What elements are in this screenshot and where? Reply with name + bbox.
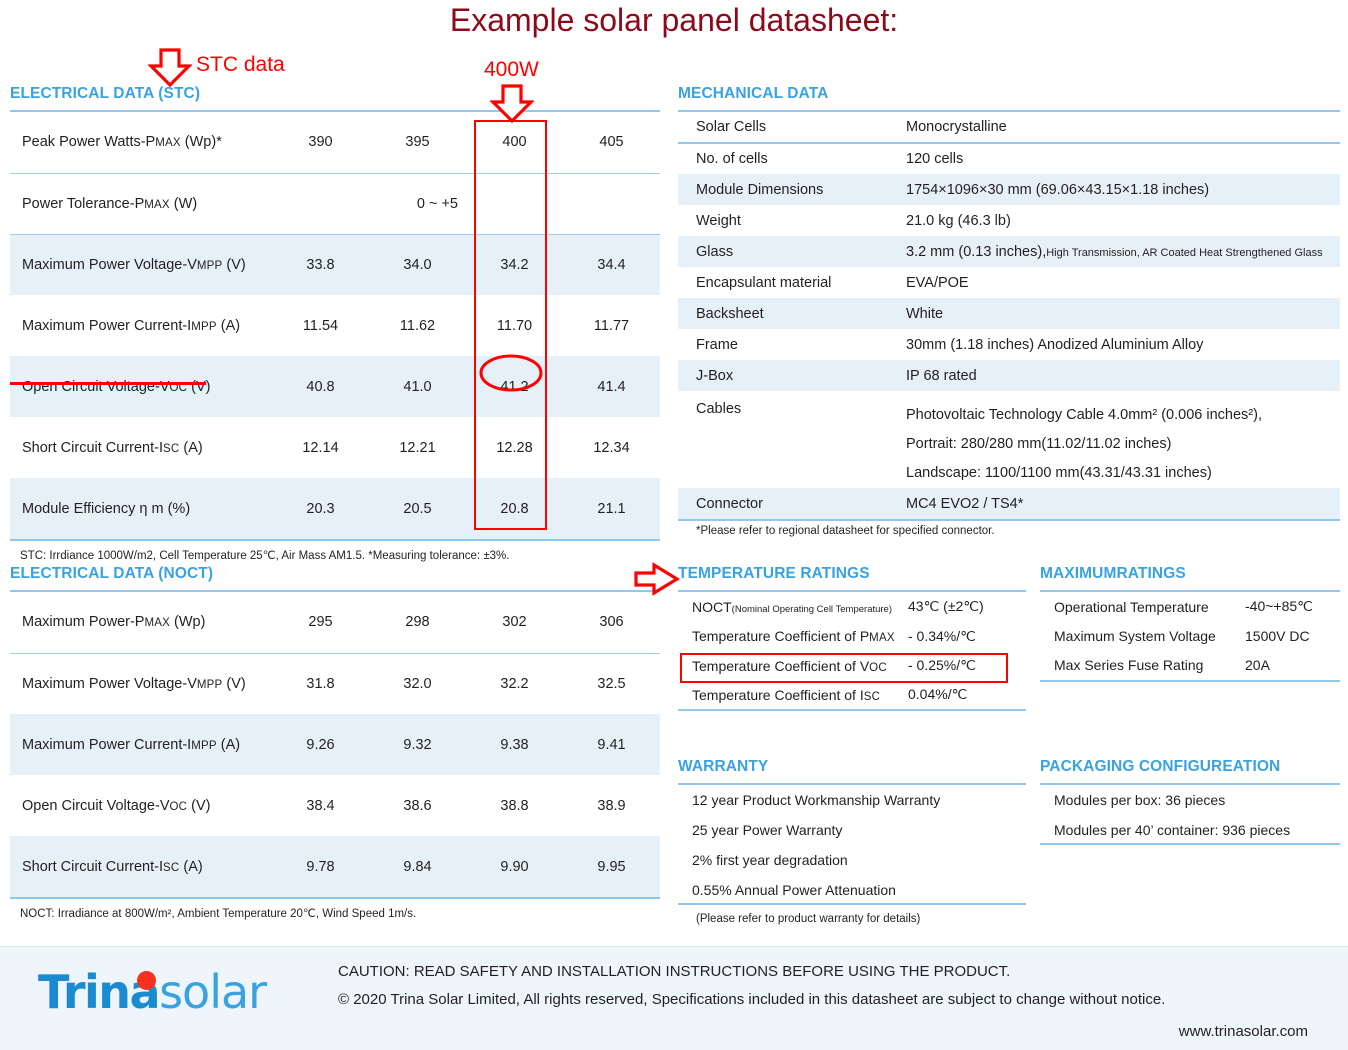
cable-line-2: Portrait: 280/280 mm(11.02/11.02 inches): [906, 430, 1340, 459]
table-row: Open Circuit Voltage-VOC (V) 38.4 38.6 3…: [10, 775, 660, 836]
cell-value: 11.70: [466, 295, 563, 356]
row-key: Glass: [678, 236, 906, 267]
footer-legal-text: CAUTION: READ SAFETY AND INSTALLATION IN…: [338, 963, 1308, 1019]
warranty-section: WARRANTY 12 year Product Workmanship War…: [678, 758, 1026, 925]
divider: [10, 539, 660, 541]
cell-value: 32.2: [466, 653, 563, 714]
row-label: Module Efficiency η m (%): [10, 478, 272, 539]
table-row: Maximum Power-PMAX (Wp) 295 298 302 306: [10, 592, 660, 653]
list-item: 2% first year degradation: [678, 845, 1026, 875]
row-value: MC4 EVO2 / TS4*: [906, 488, 1340, 519]
table-row: Module Dimensions 1754×1096×30 mm (69.06…: [678, 174, 1340, 205]
cell-value: 40.8: [272, 356, 369, 417]
cell-value: 12.14: [272, 417, 369, 478]
row-value: 20A: [1245, 651, 1340, 681]
row-value: 43℃ (±2℃): [908, 592, 1026, 622]
cell-value: 33.8: [272, 234, 369, 295]
row-value: IP 68 rated: [906, 360, 1340, 391]
warranty-heading: WARRANTY: [678, 758, 1026, 776]
cable-line-1: Photovoltaic Technology Cable 4.0mm² (0.…: [906, 401, 1340, 430]
row-key: Frame: [678, 329, 906, 360]
table-row: No. of cells 120 cells: [678, 143, 1340, 174]
electrical-noct-section: ELECTRICAL DATA (NOCT) Maximum Power-PMA…: [10, 565, 660, 920]
row-key: Maximum System Voltage: [1040, 622, 1245, 652]
table-row: Open Circuit Voltage-VOC (V) 40.8 41.0 4…: [10, 356, 660, 417]
table-row: Short Circuit Current-ISC (A) 12.14 12.2…: [10, 417, 660, 478]
copyright-line: © 2020 Trina Solar Limited, All rights r…: [338, 991, 1308, 1008]
row-key: Temperature Coefficient of VOC: [678, 651, 908, 681]
cell-value: 38.4: [272, 775, 369, 836]
table-row: Max Series Fuse Rating 20A: [1040, 651, 1340, 681]
website-link[interactable]: www.trinasolar.com: [1179, 1023, 1308, 1040]
trinasolar-logo: Trinasolar: [38, 965, 298, 1031]
temperature-ratings-section: TEMPERATURE RATINGS NOCT(Nominal Operati…: [678, 565, 1026, 711]
table-row: Maximum Power Current-IMPP (A) 9.26 9.32…: [10, 714, 660, 775]
row-key: Temperature Coefficient of ISC: [678, 681, 908, 711]
cell-value: 20.8: [466, 478, 563, 539]
cell-value: 405: [563, 112, 660, 173]
row-value: 30mm (1.18 inches) Anodized Aluminium Al…: [906, 329, 1340, 360]
table-row: Frame 30mm (1.18 inches) Anodized Alumin…: [678, 329, 1340, 360]
table-row: Connector MC4 EVO2 / TS4*: [678, 488, 1340, 519]
noct-expansion: (Nominal Operating Cell Temperature): [732, 604, 892, 615]
cell-value: 9.95: [563, 836, 660, 897]
cell-value: 295: [272, 592, 369, 653]
cell-value: 0 ~ +5: [369, 173, 466, 234]
table-row: Maximum Power Current-IMPP (A) 11.54 11.…: [10, 295, 660, 356]
table-row: Operational Temperature -40~+85℃: [1040, 592, 1340, 622]
cell-value: 9.26: [272, 714, 369, 775]
row-label: Short Circuit Current-ISC (A): [10, 836, 272, 897]
row-key: Connector: [678, 488, 906, 519]
row-value: - 0.25%/℃: [908, 651, 1026, 681]
cable-line-3: Landscape: 1100/1100 mm(43.31/43.31 inch…: [906, 459, 1340, 488]
cell-value: 306: [563, 592, 660, 653]
row-label: Maximum Power Current-IMPP (A): [10, 714, 272, 775]
row-value: Monocrystalline: [906, 112, 1340, 143]
packaging-heading: PACKAGING CONFIGUREATION: [1040, 758, 1340, 776]
table-row: Solar Cells Monocrystalline: [678, 112, 1340, 143]
table-row: Short Circuit Current-ISC (A) 9.78 9.84 …: [10, 836, 660, 897]
cell-value: 395: [369, 112, 466, 173]
cell-value: 38.9: [563, 775, 660, 836]
row-key: NOCT(Nominal Operating Cell Temperature): [678, 592, 908, 622]
mechanical-data-table: Solar Cells Monocrystalline No. of cells…: [678, 112, 1340, 519]
row-value: 120 cells: [906, 143, 1340, 174]
table-row: Module Efficiency η m (%) 20.3 20.5 20.8…: [10, 478, 660, 539]
temperature-ratings-heading: TEMPERATURE RATINGS: [678, 565, 1026, 583]
maximum-ratings-section: MAXIMUMRATINGS Operational Temperature -…: [1040, 565, 1340, 682]
table-row: Power Tolerance-PMAX (W) 0 ~ +5: [10, 173, 660, 234]
row-label: Maximum Power Voltage-VMPP (V): [10, 234, 272, 295]
cell-value: 41.0: [369, 356, 466, 417]
row-value: 0.04%/℃: [908, 681, 1026, 711]
row-value: White: [906, 298, 1340, 329]
divider: [678, 519, 1340, 521]
row-value: 1754×1096×30 mm (69.06×43.15×1.18 inches…: [906, 174, 1340, 205]
row-key: Max Series Fuse Rating: [1040, 651, 1245, 681]
list-item: Modules per box: 36 pieces: [1040, 785, 1340, 815]
row-label: Power Tolerance-PMAX (W): [10, 173, 272, 234]
row-label: Maximum Power Current-IMPP (A): [10, 295, 272, 356]
list-item: 12 year Product Workmanship Warranty: [678, 785, 1026, 815]
electrical-stc-section: ELECTRICAL DATA (STC) Peak Power Watts-P…: [10, 85, 660, 562]
mechanical-data-section: MECHANICAL DATA Solar Cells Monocrystall…: [678, 85, 1340, 537]
list-item: 25 year Power Warranty: [678, 815, 1026, 845]
cell-value: 390: [272, 112, 369, 173]
row-label: Maximum Power Voltage-VMPP (V): [10, 653, 272, 714]
row-key: Solar Cells: [678, 112, 906, 143]
row-label: Peak Power Watts-PMAX (Wp)*: [10, 112, 272, 173]
row-value: -40~+85℃: [1245, 592, 1340, 622]
table-row: Temperature Coefficient of ISC 0.04%/℃: [678, 681, 1026, 711]
row-key: Module Dimensions: [678, 174, 906, 205]
table-row: NOCT(Nominal Operating Cell Temperature)…: [678, 592, 1026, 622]
temperature-ratings-table: NOCT(Nominal Operating Cell Temperature)…: [678, 592, 1026, 711]
row-value: Photovoltaic Technology Cable 4.0mm² (0.…: [906, 391, 1340, 488]
row-value: 3.2 mm (0.13 inches),High Transmission, …: [906, 236, 1340, 267]
row-label: Open Circuit Voltage-VOC (V): [10, 775, 272, 836]
row-key: Cables: [678, 391, 906, 488]
glass-detail: High Transmission, AR Coated Heat Streng…: [1046, 247, 1322, 259]
list-item: 0.55% Annual Power Attenuation: [678, 875, 1026, 905]
row-key: No. of cells: [678, 143, 906, 174]
row-value: EVA/POE: [906, 267, 1340, 298]
row-key: Temperature Coefficient of PMAX: [678, 622, 908, 652]
cell-value: 21.1: [563, 478, 660, 539]
logo-dot-icon: [137, 971, 156, 990]
table-row-voc-coefficient: Temperature Coefficient of VOC - 0.25%/℃: [678, 651, 1026, 681]
cell-value: 11.62: [369, 295, 466, 356]
table-row: Peak Power Watts-PMAX (Wp)* 390 395 400 …: [10, 112, 660, 173]
datasheet-body: ELECTRICAL DATA (STC) Peak Power Watts-P…: [0, 0, 1348, 940]
maximum-ratings-heading: MAXIMUMRATINGS: [1040, 565, 1340, 583]
row-key: Encapsulant material: [678, 267, 906, 298]
packaging-section: PACKAGING CONFIGUREATION Modules per box…: [1040, 758, 1340, 845]
cell-value: 12.21: [369, 417, 466, 478]
cell-value: 400: [466, 112, 563, 173]
cell-value: 34.0: [369, 234, 466, 295]
cell-value: [466, 173, 563, 234]
row-key: Weight: [678, 205, 906, 236]
cell-value: 9.41: [563, 714, 660, 775]
cell-value: 11.77: [563, 295, 660, 356]
cell-value: 38.6: [369, 775, 466, 836]
cell-value: 34.4: [563, 234, 660, 295]
logo-text-solar: solar: [159, 965, 266, 1019]
cell-value: 32.5: [563, 653, 660, 714]
cell-value: 12.34: [563, 417, 660, 478]
cell-value: 20.3: [272, 478, 369, 539]
table-row: Weight 21.0 kg (46.3 lb): [678, 205, 1340, 236]
divider: [10, 897, 660, 899]
cell-value: 298: [369, 592, 466, 653]
table-row: Maximum Power Voltage-VMPP (V) 31.8 32.0…: [10, 653, 660, 714]
table-row: Temperature Coefficient of PMAX - 0.34%/…: [678, 622, 1026, 652]
table-row: Cables Photovoltaic Technology Cable 4.0…: [678, 391, 1340, 488]
cell-value: 31.8: [272, 653, 369, 714]
row-label: Short Circuit Current-ISC (A): [10, 417, 272, 478]
table-row: Maximum Power Voltage-VMPP (V) 33.8 34.0…: [10, 234, 660, 295]
row-label-voc: Open Circuit Voltage-VOC (V): [10, 356, 272, 417]
cell-value-highlighted: 41.2: [466, 356, 563, 417]
row-value: 1500V DC: [1245, 622, 1340, 652]
electrical-noct-table: Maximum Power-PMAX (Wp) 295 298 302 306 …: [10, 592, 660, 897]
cell-value: 34.2: [466, 234, 563, 295]
cell-value: 9.84: [369, 836, 466, 897]
row-value: 21.0 kg (46.3 lb): [906, 205, 1340, 236]
table-row: Encapsulant material EVA/POE: [678, 267, 1340, 298]
cell-value: [272, 173, 369, 234]
electrical-noct-heading: ELECTRICAL DATA (NOCT): [10, 565, 660, 583]
list-item: Modules per 40’ container: 936 pieces: [1040, 815, 1340, 845]
cell-value: 41.4: [563, 356, 660, 417]
packaging-list: Modules per box: 36 pieces Modules per 4…: [1040, 785, 1340, 845]
cell-value: 302: [466, 592, 563, 653]
page-footer: Trinasolar CAUTION: READ SAFETY AND INST…: [0, 946, 1348, 1050]
table-row: Maximum System Voltage 1500V DC: [1040, 622, 1340, 652]
electrical-stc-heading: ELECTRICAL DATA (STC): [10, 85, 660, 103]
table-row: J-Box IP 68 rated: [678, 360, 1340, 391]
cell-value: 32.0: [369, 653, 466, 714]
cell-value: 11.54: [272, 295, 369, 356]
row-value: - 0.34%/℃: [908, 622, 1026, 652]
mechanical-footnote: *Please refer to regional datasheet for …: [678, 525, 1340, 537]
row-key: Operational Temperature: [1040, 592, 1245, 622]
table-row: Glass 3.2 mm (0.13 inches),High Transmis…: [678, 236, 1340, 267]
noct-footnote: NOCT: Irradiance at 800W/m², Ambient Tem…: [10, 906, 660, 920]
cell-value: [563, 173, 660, 234]
warranty-list: 12 year Product Workmanship Warranty 25 …: [678, 785, 1026, 905]
caution-line: CAUTION: READ SAFETY AND INSTALLATION IN…: [338, 963, 1308, 980]
cell-value: 38.8: [466, 775, 563, 836]
warranty-footnote: (Please refer to product warranty for de…: [678, 913, 1026, 925]
row-label: Maximum Power-PMAX (Wp): [10, 592, 272, 653]
stc-footnote: STC: Irrdiance 1000W/m2, Cell Temperatur…: [10, 548, 660, 562]
maximum-ratings-table: Operational Temperature -40~+85℃ Maximum…: [1040, 592, 1340, 682]
row-key: Backsheet: [678, 298, 906, 329]
table-row: Backsheet White: [678, 298, 1340, 329]
row-key: J-Box: [678, 360, 906, 391]
cell-value: 12.28: [466, 417, 563, 478]
mechanical-data-heading: MECHANICAL DATA: [678, 85, 1340, 103]
cell-value: 9.38: [466, 714, 563, 775]
electrical-stc-table: Peak Power Watts-PMAX (Wp)* 390 395 400 …: [10, 112, 660, 539]
cell-value: 9.78: [272, 836, 369, 897]
cell-value: 20.5: [369, 478, 466, 539]
cell-value: 9.32: [369, 714, 466, 775]
cell-value: 9.90: [466, 836, 563, 897]
